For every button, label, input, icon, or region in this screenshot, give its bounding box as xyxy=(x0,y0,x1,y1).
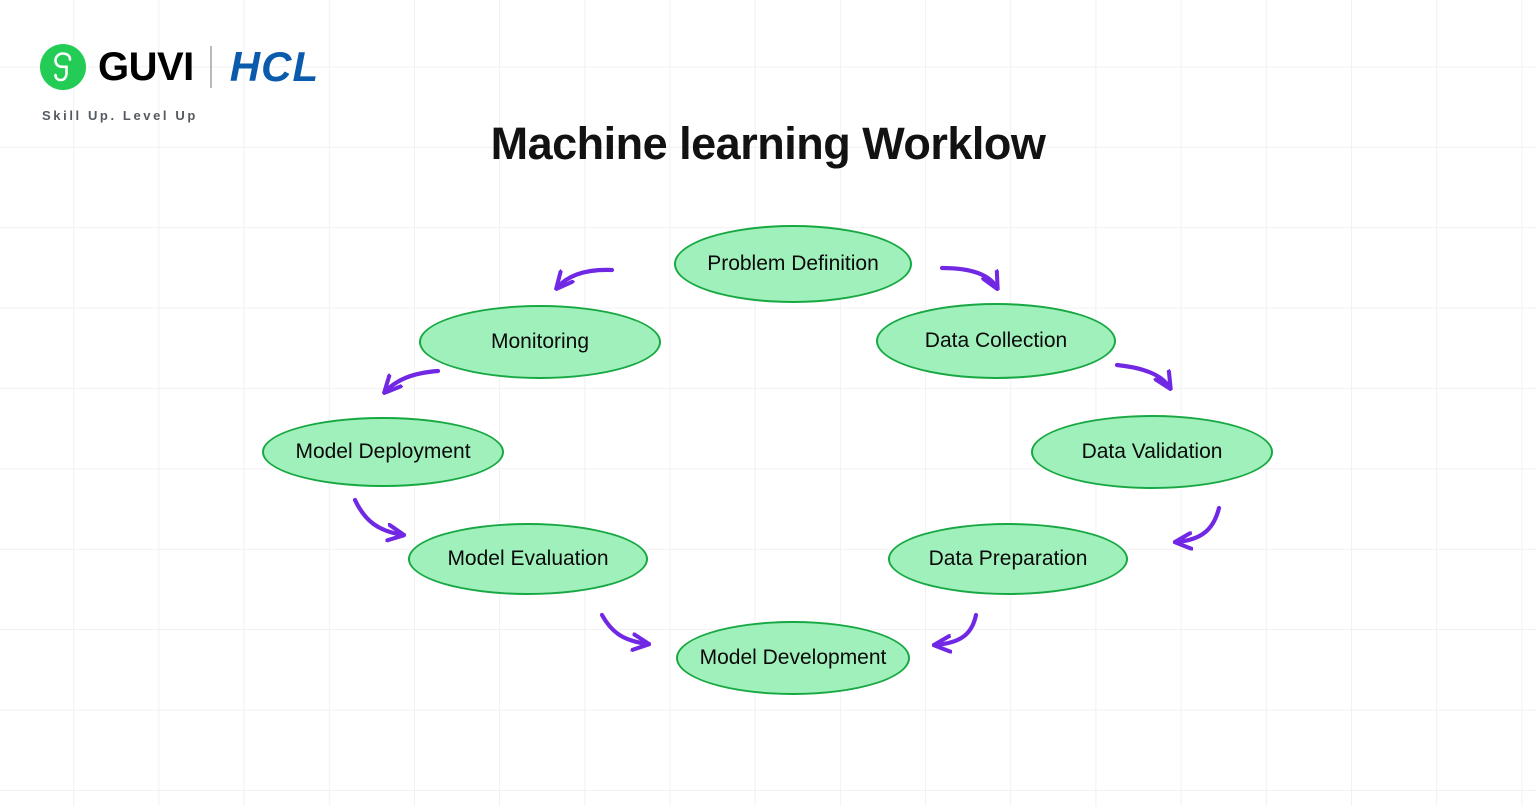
node-label: Model Deployment xyxy=(295,440,470,464)
node-data-collection[interactable]: Data Collection xyxy=(876,303,1116,379)
node-data-preparation[interactable]: Data Preparation xyxy=(888,523,1128,595)
workflow-diagram: Problem Definition Data Collection Data … xyxy=(0,0,1536,806)
edge-data-validation-to-data-preparation xyxy=(1176,508,1219,542)
node-label: Problem Definition xyxy=(707,252,879,276)
node-label: Data Collection xyxy=(925,329,1067,353)
node-label: Monitoring xyxy=(491,330,589,354)
node-label: Data Validation xyxy=(1082,440,1223,464)
node-model-development[interactable]: Model Development xyxy=(676,621,910,695)
edge-model-deployment-to-model-evaluation xyxy=(355,500,403,535)
node-model-deployment[interactable]: Model Deployment xyxy=(262,417,504,487)
node-label: Model Evaluation xyxy=(447,547,608,571)
edge-problem-definition-to-data-collection xyxy=(942,268,997,288)
node-label: Model Development xyxy=(700,646,887,670)
node-data-validation[interactable]: Data Validation xyxy=(1031,415,1273,489)
node-monitoring[interactable]: Monitoring xyxy=(419,305,661,379)
edge-model-evaluation-to-model-development xyxy=(602,615,648,644)
node-label: Data Preparation xyxy=(929,547,1088,571)
edge-problem-definition-to-monitoring xyxy=(557,270,612,288)
node-problem-definition[interactable]: Problem Definition xyxy=(674,225,912,303)
node-model-evaluation[interactable]: Model Evaluation xyxy=(408,523,648,595)
edge-data-collection-to-data-validation xyxy=(1117,365,1170,388)
edge-data-preparation-to-model-development xyxy=(935,615,976,645)
edge-monitoring-to-model-deployment xyxy=(385,371,438,392)
diagram-canvas: GUVI HCL Skill Up. Level Up Machine lear… xyxy=(0,0,1536,806)
